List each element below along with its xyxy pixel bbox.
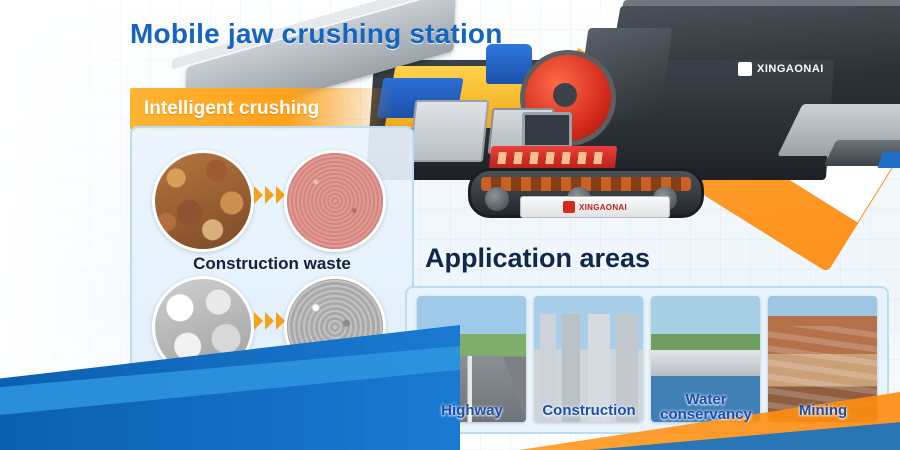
material-label-construction-waste: Construction waste	[132, 254, 412, 274]
application-card-construction[interactable]: Construction	[534, 296, 643, 422]
brand-diamond-icon	[738, 62, 752, 76]
application-label-highway: Highway	[417, 403, 526, 418]
triple-chevron-right-icon	[254, 312, 285, 330]
application-areas-panel: Highway Construction Water conservancy M…	[405, 286, 889, 434]
machine-side-cabinet	[409, 100, 490, 162]
application-label-construction: Construction	[534, 403, 643, 418]
machine-red-guard	[489, 146, 618, 170]
intelligent-crushing-banner: Intelligent crushing	[130, 88, 394, 130]
application-areas-heading: Application areas	[425, 243, 650, 274]
machine-hopper-brand-label: XINGAONAI	[757, 63, 824, 75]
machine-brand-plate: XINGAONAI	[520, 196, 670, 218]
page-title: Mobile jaw crushing station	[130, 18, 503, 50]
crushed-red-sand-photo	[284, 150, 386, 252]
application-card-water-conservancy[interactable]: Water conservancy	[651, 296, 760, 422]
machine-hopper-brand: XINGAONAI	[738, 58, 868, 80]
material-row-construction-waste: Construction waste	[132, 150, 412, 260]
application-label-water-conservancy: Water conservancy	[651, 392, 760, 422]
application-areas-grid: Highway Construction Water conservancy M…	[417, 296, 877, 422]
machine-brand-plate-label: XINGAONAI	[579, 203, 627, 212]
application-card-mining[interactable]: Mining	[768, 296, 877, 422]
rubble-photo	[152, 150, 254, 252]
intelligent-crushing-label: Intelligent crushing	[130, 98, 319, 120]
poster-canvas: XINGAONAI XINGAONAI Mobile jaw crushing …	[0, 0, 900, 450]
machine-display-screen	[522, 112, 572, 148]
triple-chevron-right-icon	[254, 186, 285, 204]
machine-track-wheel	[485, 187, 509, 211]
application-label-mining: Mining	[768, 403, 877, 418]
brand-diamond-icon	[563, 201, 575, 213]
